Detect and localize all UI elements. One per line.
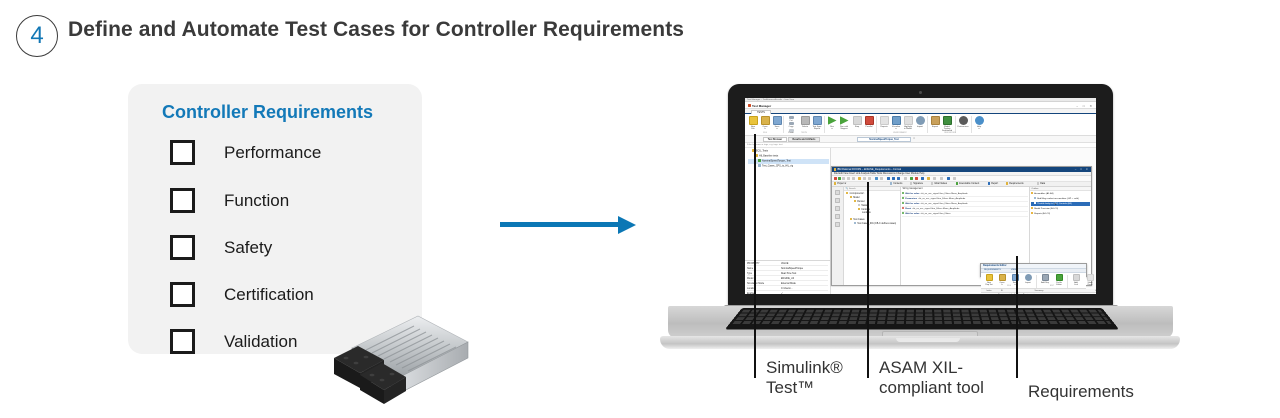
rail-icon-grid[interactable] xyxy=(835,190,840,195)
checkbox-safety[interactable] xyxy=(170,235,195,260)
checkbox-certification[interactable] xyxy=(170,282,195,307)
ribbon-button-run-with-stepper[interactable]: Run withStepper xyxy=(838,116,850,130)
property-row: PROPERTYVALUE xyxy=(747,262,828,266)
property-row: ModelENGINE_ctrl xyxy=(747,277,828,281)
tab-test-browser[interactable]: Test Browser xyxy=(763,137,787,142)
caption-text: Test Manager – TestHarnessResults – Item… xyxy=(747,99,794,101)
tree-node-model[interactable]: Model xyxy=(850,196,859,199)
tab-results-and-artifacts[interactable]: Results and Artifacts xyxy=(788,137,820,142)
laptop-illustration: Test Manager – TestHarnessResults – Item… xyxy=(660,84,1180,354)
ribbon-button-test-spec-report[interactable]: Test SpecReport xyxy=(811,116,823,130)
requirement-label: Performance xyxy=(224,143,321,163)
ribbon-button-reports[interactable]: Reports xyxy=(878,116,890,128)
test-browser-pane: ECU_Tests HIL Baseline tests NominalSpee… xyxy=(745,148,831,294)
conditions-header: String management xyxy=(901,187,1029,191)
app-icon xyxy=(748,104,751,107)
doors-icon-rail xyxy=(832,187,844,285)
open-document-tab[interactable]: NominalSpeedTorque_Test xyxy=(857,137,911,142)
checkbox-validation[interactable] xyxy=(170,329,195,354)
tree-node-test-cases[interactable]: Test Cases xyxy=(850,218,865,221)
callout-label-requirements: Requirements xyxy=(1028,382,1134,402)
app-title: Test Manager xyxy=(752,104,771,108)
laptop-lid: Test Manager – TestHarnessResults – Item… xyxy=(728,84,1113,308)
tree-search-input[interactable]: 🔍 Search xyxy=(844,187,900,191)
callout-line-asam-xil xyxy=(867,182,869,378)
app-titlebar: Test Manager – □ ✕ xyxy=(745,102,1096,109)
ribbon-button-save[interactable]: Save▾ xyxy=(771,116,783,130)
tab-executable-content[interactable]: Executable Content xyxy=(956,182,979,186)
ribbon-button-new[interactable]: NewFile xyxy=(747,116,759,130)
ribbon-button-stop[interactable]: Stop xyxy=(851,116,863,128)
tab-signature[interactable]: Signature xyxy=(910,182,923,186)
tree-node-tasks[interactable]: Tasks xyxy=(858,204,867,207)
window-controls[interactable]: – □ ✕ xyxy=(1076,104,1094,108)
condition-row[interactable]: Wait for value slrt_ex_osc_signal.Gen_Fi… xyxy=(902,202,1028,207)
requirement-label: Function xyxy=(224,191,289,211)
ribbon-button-delete[interactable]: Delete xyxy=(799,116,811,128)
step-number-text: 4 xyxy=(30,22,43,50)
rail-icon-link[interactable] xyxy=(835,214,840,219)
re-button-add-requirement[interactable]: Add Req xyxy=(1039,274,1051,284)
rail-icon-table[interactable] xyxy=(835,222,840,227)
re-group-edit: EDIT xyxy=(1039,285,1065,287)
doors-app-icon xyxy=(834,168,836,170)
ribbon-button-visualize[interactable]: Visualize▾ xyxy=(890,116,902,130)
doors-title-text: IBM Rational DOORS – ENGINE_Requirements… xyxy=(837,168,901,171)
tab-contents[interactable]: Contents xyxy=(890,182,902,186)
ribbon-button-help[interactable]: Help▾ xyxy=(973,116,985,130)
requirements-doors-window: IBM Rational DOORS – ENGINE_Requirements… xyxy=(831,166,1092,286)
ribbon-button-import[interactable]: Import xyxy=(914,116,926,128)
mouse-cursor-icon: ➲ xyxy=(1054,202,1057,206)
condition-row[interactable]: Wait for value slrt_ex_osc_signal.Gen_Fi… xyxy=(902,212,1028,217)
callout-line-requirements xyxy=(1016,256,1018,378)
checkbox-performance[interactable] xyxy=(170,140,195,165)
ribbon-group-tests: TESTS xyxy=(785,132,823,134)
outline-item-selected[interactable]: Throttle body ctrl (A2) Controls (A3) xyxy=(1031,202,1090,206)
test-manager-window: Test Manager – TestHarnessResults – Item… xyxy=(745,98,1096,294)
re-group-requirements: REQUIREMENTS xyxy=(1070,285,1096,287)
condition-row[interactable]: Reset slrt_ex_osc_signal.Gen_Filters.Mon… xyxy=(902,207,1028,212)
ribbon-button-preferences[interactable]: Preferences xyxy=(957,116,969,128)
ribbon-group-environment: RESOURCES xyxy=(929,132,971,134)
tab-report[interactable]: Report xyxy=(988,182,998,186)
tree-item-ecu-tests[interactable]: ECU_Tests xyxy=(748,149,829,154)
test-icon xyxy=(758,159,761,162)
close-document-icon[interactable]: ✕ xyxy=(913,137,915,140)
ribbon-toolbar: NewFile Open▾ Save▾ Cut Copy Paste Delet… xyxy=(745,114,1096,136)
ribbon-button-highlight-in-model[interactable]: Highlightin Model xyxy=(902,116,914,130)
requirement-item-validation[interactable]: Validation xyxy=(170,329,297,354)
re-group-file: FILE xyxy=(983,285,1035,287)
pane-header-project[interactable]: Project ▾ xyxy=(834,182,846,186)
tab-data[interactable]: Data xyxy=(1037,182,1045,186)
doors-window-controls[interactable]: – □ ✕ xyxy=(1075,168,1090,171)
outline-item[interactable]: Assemblies (A1-A3) xyxy=(1031,192,1090,196)
outline-header: Outline xyxy=(1030,187,1091,191)
laptop-latch-notch xyxy=(896,338,960,342)
outline-item[interactable]: Model Provision (A1-C3) xyxy=(1031,207,1090,211)
doors-project-tree: 🔍 Search <components> Model Runner Tasks… xyxy=(844,187,901,285)
table-row[interactable]: Requirements for Gasoline_Requirements xyxy=(981,293,1086,294)
ribbon-button-run[interactable]: Run▾ xyxy=(826,116,838,130)
slide-root: 4 Define and Automate Test Cases for Con… xyxy=(0,0,1280,418)
checkbox-function[interactable] xyxy=(170,188,195,213)
requirement-item-certification[interactable]: Certification xyxy=(170,282,314,307)
test-icon xyxy=(758,164,761,167)
requirement-label: Certification xyxy=(224,285,314,305)
ribbon-button-model-testing-dashboard[interactable]: Model TestingDashboard xyxy=(941,116,953,132)
callout-label-asam-xil: ASAM XIL-compliant tool xyxy=(879,358,984,398)
property-row: Enabled✓ xyxy=(747,292,828,294)
requirement-label: Safety xyxy=(224,238,272,258)
browser-tabbar: Test Browser Results and Artifacts Nomin… xyxy=(745,136,1096,143)
callout-label-simulink-test: Simulink®Test™ xyxy=(766,358,843,398)
outline-item[interactable]: Bad Mag coolant accumulator (-W1 + cold) xyxy=(1031,197,1090,201)
outline-item[interactable]: Reports (A1-C3) xyxy=(1031,212,1090,216)
property-row: TypeReal-Time Test xyxy=(747,272,828,276)
ecu-module-image xyxy=(322,312,470,410)
property-row: LocationC:\Users\... xyxy=(747,287,828,291)
property-row: Simulation ModeExternal Mode xyxy=(747,282,828,286)
doors-view-tabs: Project ▾ Contents Signature Initial Val… xyxy=(832,182,1091,187)
tree-root-node[interactable]: <components> xyxy=(846,192,864,195)
ribbon-button-parallel[interactable]: Parallel xyxy=(863,116,875,128)
requirements-editor-window: Requirements Editor REQUIREMENTS VIEW Ne… xyxy=(980,263,1087,277)
tree-item-test-cases[interactable]: Test_Cases_CPS_to_HIL_rig xyxy=(748,164,829,169)
laptop-keyboard xyxy=(725,308,1119,329)
ribbon-button-export[interactable]: Export xyxy=(929,116,941,128)
tree-node-runner[interactable]: Runner xyxy=(854,200,865,203)
tree-item-hil-baseline[interactable]: HIL Baseline tests xyxy=(748,154,829,159)
arrow-shaft xyxy=(500,222,620,227)
requirement-label: Validation xyxy=(224,332,297,352)
step-number-badge: 4 xyxy=(16,15,58,57)
laptop-screen: Test Manager – TestHarnessResults – Item… xyxy=(745,98,1096,294)
rail-icon-filter[interactable] xyxy=(835,206,840,211)
rail-icon-list[interactable] xyxy=(835,198,840,203)
property-row: NameNominalSpeedTorque xyxy=(747,267,828,271)
tree-node-test-cases-001[interactable]: Test Cases_001 (CB-C defines cases) xyxy=(854,222,896,225)
arrow-head-icon xyxy=(618,216,636,234)
webcam-icon xyxy=(919,91,922,94)
condition-row[interactable]: Parameters slrt_ex_osc_signal.Gen_Filter… xyxy=(902,197,1028,202)
requirement-item-function[interactable]: Function xyxy=(170,188,289,213)
tab-initial-values[interactable]: Initial Values xyxy=(931,182,947,186)
panel-title: Controller Requirements xyxy=(162,102,373,123)
tab-requirements[interactable]: Requirements xyxy=(1006,182,1024,186)
ribbon-group-file: FILE xyxy=(747,132,783,134)
requirement-item-performance[interactable]: Performance xyxy=(170,140,321,165)
ribbon-button-open[interactable]: Open▾ xyxy=(759,116,771,130)
requirement-item-safety[interactable]: Safety xyxy=(170,235,272,260)
callout-line-simulink-test xyxy=(754,134,756,378)
ribbon-group-results: ENVIRONMENT xyxy=(876,132,924,134)
re-button-import[interactable]: Import xyxy=(1022,274,1034,284)
condition-row[interactable]: Wait for value slrt_ex_osc_signal.Gen_Fi… xyxy=(902,192,1028,197)
requirements-editor-ribbon: NewReq Set Open▾ Save▾ Import Add Req Pr… xyxy=(981,273,1086,289)
tree-item-nominal-speed-torque[interactable]: NominalSpeedTorque_Test xyxy=(748,159,829,164)
page-title: Define and Automate Test Cases for Contr… xyxy=(68,18,684,42)
